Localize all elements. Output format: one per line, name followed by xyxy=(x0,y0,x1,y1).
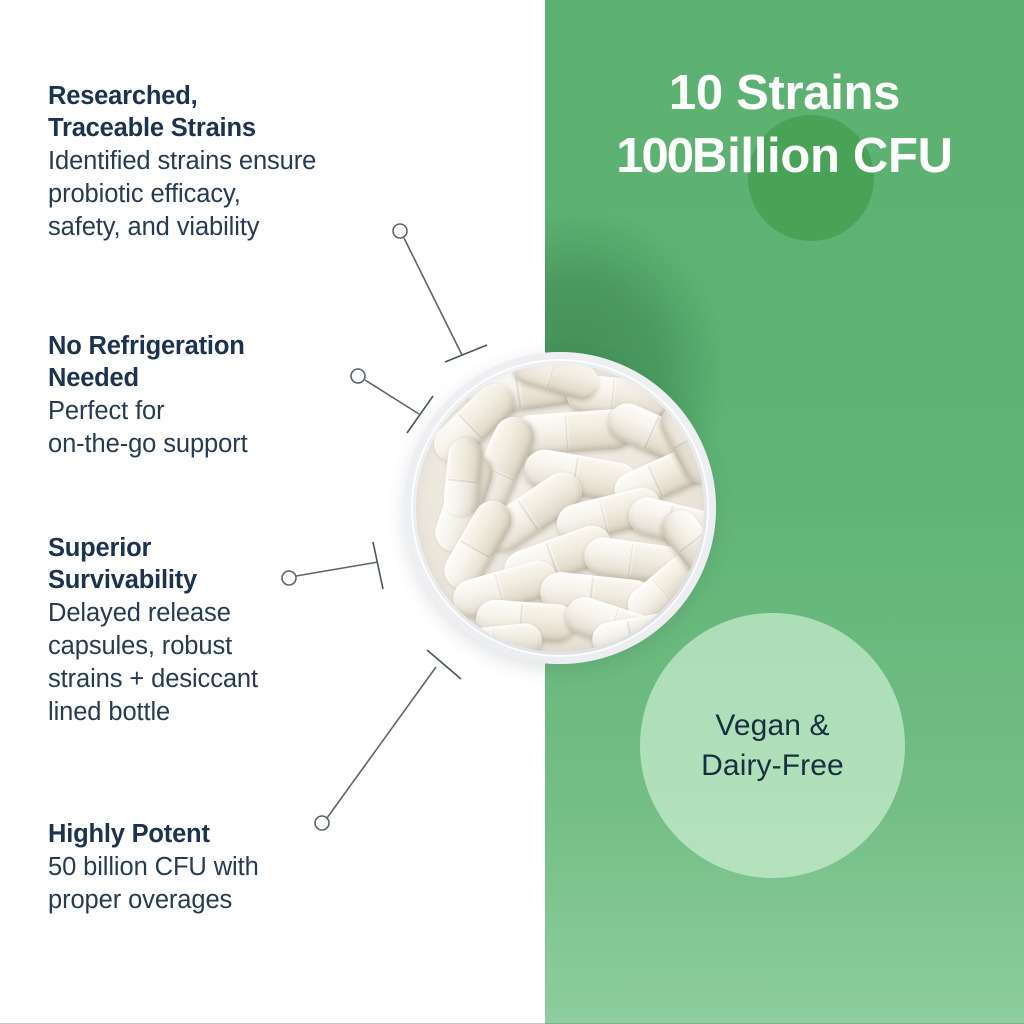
feature-superior-survivability: Superior Survivability Delayed release c… xyxy=(48,532,428,729)
headline-line-2: 100Billion CFU xyxy=(545,125,1024,188)
feature-title: Researched, Traceable Strains xyxy=(48,80,428,144)
feature-title: Superior Survivability xyxy=(48,532,428,596)
feature-body: Perfect for on-the-go support xyxy=(48,395,428,461)
badge-label: Vegan & Dairy-Free xyxy=(701,706,844,785)
headline-cfu-label: Billion CFU xyxy=(692,129,953,183)
headline-cfu-number: 100 xyxy=(616,129,692,183)
bowl-rim xyxy=(404,352,716,664)
headline-line-1: 10 Strains xyxy=(669,66,900,120)
feature-no-refrigeration-needed: No Refrigeration Needed Perfect for on-t… xyxy=(48,330,428,461)
product-infographic: 10 Strains 100Billion CFU Vegan & Dairy-… xyxy=(0,0,1024,1024)
feature-body: Delayed release capsules, robust strains… xyxy=(48,597,428,729)
feature-body: Identified strains ensure probiotic effi… xyxy=(48,145,428,244)
feature-title: Highly Potent xyxy=(48,818,428,850)
feature-title: No Refrigeration Needed xyxy=(48,330,428,394)
feature-researched-traceable-strains: Researched, Traceable Strains Identified… xyxy=(48,80,428,244)
headline: 10 Strains 100Billion CFU xyxy=(545,62,1024,187)
capsule-bowl-image xyxy=(404,352,716,664)
feature-body: 50 billion CFU with proper overages xyxy=(48,851,428,917)
feature-highly-potent: Highly Potent 50 billion CFU with proper… xyxy=(48,818,428,917)
